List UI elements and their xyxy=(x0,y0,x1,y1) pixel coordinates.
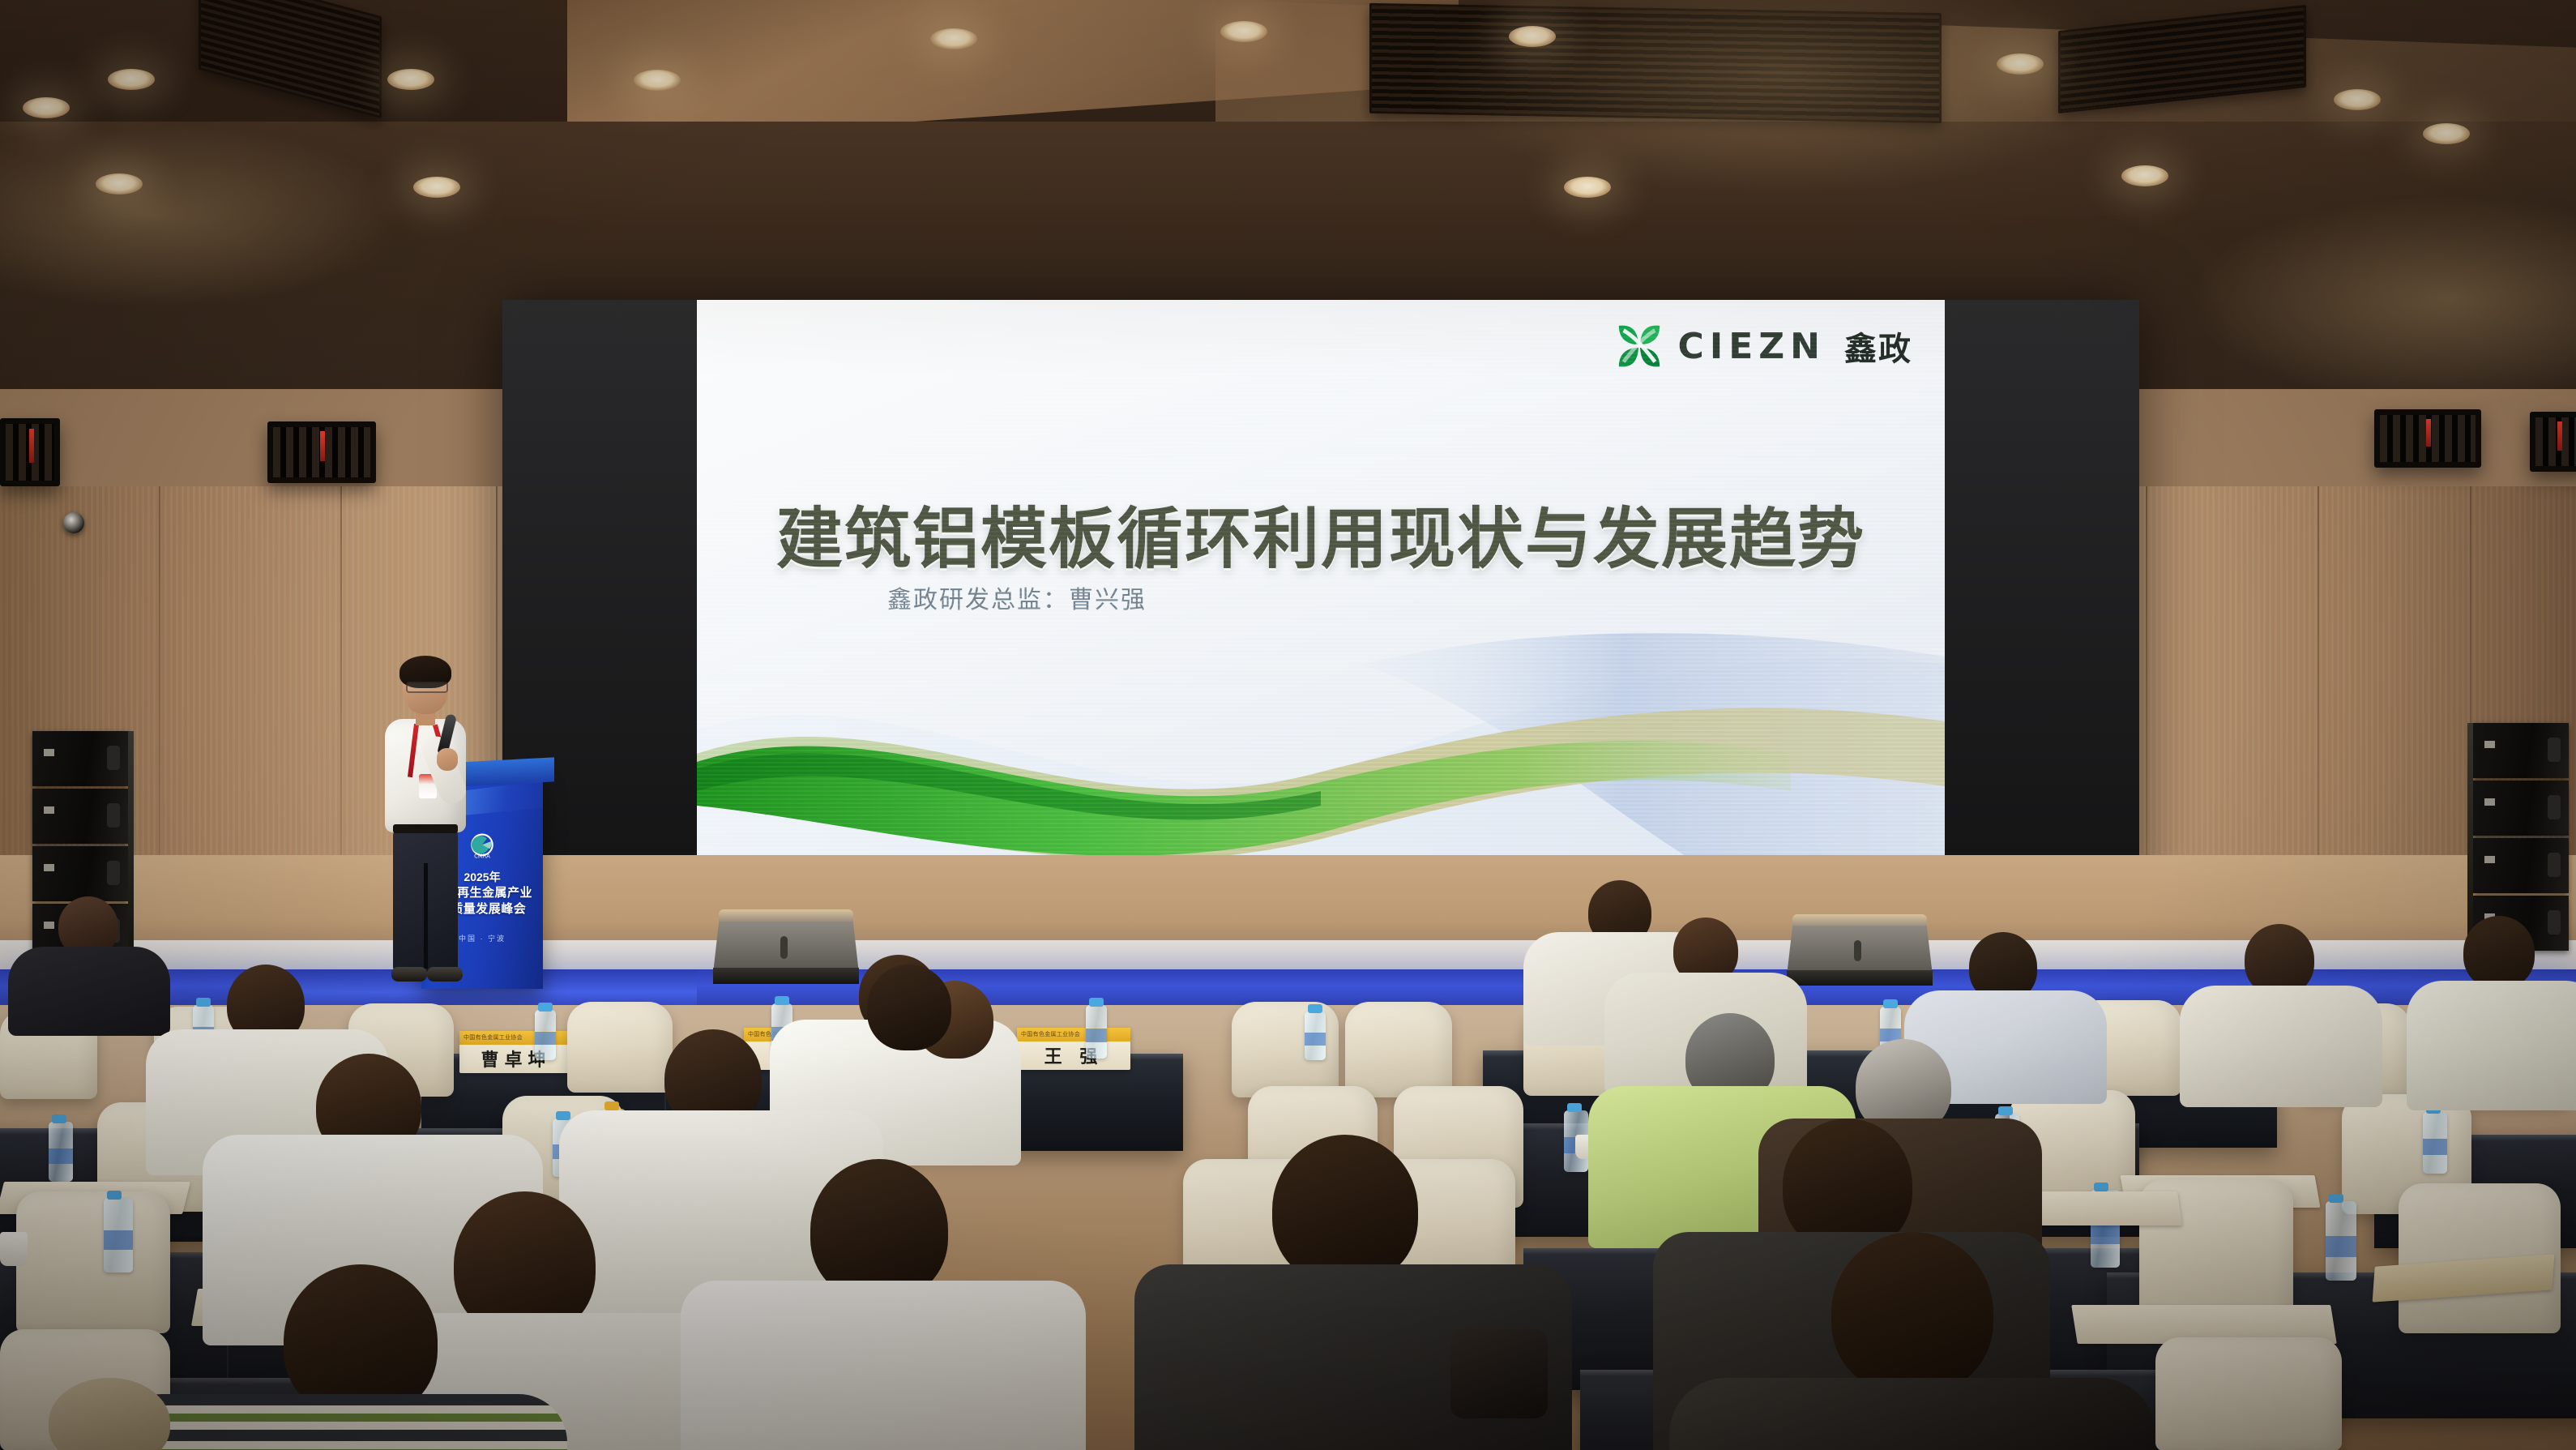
wall-louver-panel xyxy=(2530,412,2576,472)
downlight xyxy=(2423,123,2470,144)
presenter-shoe xyxy=(391,967,427,982)
ciezn-mark-icon xyxy=(1614,321,1664,371)
presenter-belt xyxy=(393,824,458,833)
audience-head xyxy=(1272,1135,1418,1285)
monitor-handle xyxy=(1854,940,1861,961)
conference-hall-photo: CIEZN 鑫政 建筑铝模板循环利用现状与发展趋势 鑫政研发总监：曹兴强 xyxy=(0,0,2576,1450)
water-bottle xyxy=(2423,1112,2447,1174)
water-bottle xyxy=(2326,1201,2356,1281)
speaker-badge xyxy=(2484,798,2495,806)
audience-head xyxy=(1831,1232,1993,1394)
louver-red-marker xyxy=(320,431,325,461)
name-card-name: 王 强 xyxy=(1017,1042,1130,1070)
speaker-badge xyxy=(2484,741,2495,748)
downlight xyxy=(413,177,460,198)
paper-cup xyxy=(0,1232,28,1266)
monitor-base xyxy=(713,968,859,984)
stage-wedge-monitor-left xyxy=(713,909,859,984)
downlight xyxy=(96,173,143,195)
louver-red-marker xyxy=(2426,419,2431,447)
ciezn-logo: CIEZN 鑫政 xyxy=(1614,321,1912,371)
speaker-badge xyxy=(44,864,54,871)
presenter-shoe xyxy=(427,967,463,982)
speaker-badge xyxy=(44,806,54,814)
stage-wedge-monitor-right xyxy=(1787,914,1933,986)
water-bottle xyxy=(49,1122,73,1182)
audience-head xyxy=(810,1159,948,1301)
speaker-rigging xyxy=(128,731,134,961)
name-card: 中国有色金属工业协会 曹卓坤 xyxy=(459,1031,573,1073)
audience-shoulders xyxy=(8,947,170,1036)
audience-shoulders xyxy=(681,1281,1086,1450)
ciezn-wordmark-cn: 鑫政 xyxy=(1844,323,1912,370)
wall-louver-panel xyxy=(267,421,376,483)
glasses-icon xyxy=(406,682,448,693)
floor-bag xyxy=(1450,1329,1548,1418)
wall-louver-panel xyxy=(2374,409,2481,468)
name-card-band: 中国有色金属工业协会 xyxy=(1017,1028,1130,1042)
monitor-base xyxy=(1787,970,1933,986)
speaker-rigging xyxy=(2467,723,2473,953)
monitor-handle xyxy=(780,936,788,959)
name-card-band: 中国有色金属工业协会 xyxy=(459,1031,573,1045)
ciezn-wordmark: CIEZN xyxy=(1678,326,1826,367)
led-screen: CIEZN 鑫政 建筑铝模板循环利用现状与发展趋势 鑫政研发总监：曹兴强 xyxy=(502,300,2139,900)
audience-head xyxy=(867,965,951,1050)
security-camera-icon xyxy=(63,512,84,533)
audience-shoulders xyxy=(1669,1378,2155,1450)
downlight xyxy=(108,69,155,90)
wall-louver-panel xyxy=(0,418,60,486)
svg-text:CMRA: CMRA xyxy=(474,853,490,859)
screen-bezel-right xyxy=(1945,300,2139,900)
presentation-slide: CIEZN 鑫政 建筑铝模板循环利用现状与发展趋势 鑫政研发总监：曹兴强 xyxy=(697,300,1945,900)
audience-head xyxy=(2463,916,2535,989)
water-bottle xyxy=(535,1010,556,1060)
downlight xyxy=(930,28,977,49)
downlight xyxy=(387,69,434,90)
audience-shoulders xyxy=(2407,981,2576,1110)
louver-red-marker xyxy=(2557,421,2562,451)
water-bottle xyxy=(1305,1012,1326,1060)
downlight xyxy=(1997,53,2044,75)
water-bottle xyxy=(1086,1005,1107,1059)
downlight xyxy=(634,70,681,91)
speaker-badge xyxy=(2484,856,2495,863)
chair xyxy=(567,1002,673,1093)
downlight xyxy=(1509,26,1556,47)
audience-striped-shirt xyxy=(113,1394,567,1450)
audience-shoulders xyxy=(2180,986,2382,1107)
name-card-name: 曹卓坤 xyxy=(459,1045,573,1073)
name-card: 中国有色金属工业协会 王 强 xyxy=(1017,1028,1130,1070)
louver-red-marker xyxy=(29,429,34,463)
presenter xyxy=(369,661,474,989)
chair xyxy=(2155,1337,2342,1450)
chair xyxy=(1345,1002,1452,1097)
downlight xyxy=(2334,89,2381,110)
water-bottle xyxy=(104,1198,133,1272)
slide-subtitle: 鑫政研发总监：曹兴强 xyxy=(887,580,1147,615)
presenter-leg-split xyxy=(424,863,428,969)
speaker-badge xyxy=(44,749,54,756)
slide-title: 建筑铝模板循环利用现状与发展趋势 xyxy=(697,485,1945,581)
downlight xyxy=(1564,177,1611,198)
downlight xyxy=(23,97,70,118)
downlight xyxy=(2121,165,2168,186)
speaker-badge xyxy=(44,922,54,929)
ceiling-vent-center xyxy=(1369,3,1942,123)
audience-head xyxy=(2245,924,2314,995)
presenter-hand xyxy=(437,748,458,771)
downlight xyxy=(1220,21,1267,42)
chair xyxy=(16,1191,170,1333)
